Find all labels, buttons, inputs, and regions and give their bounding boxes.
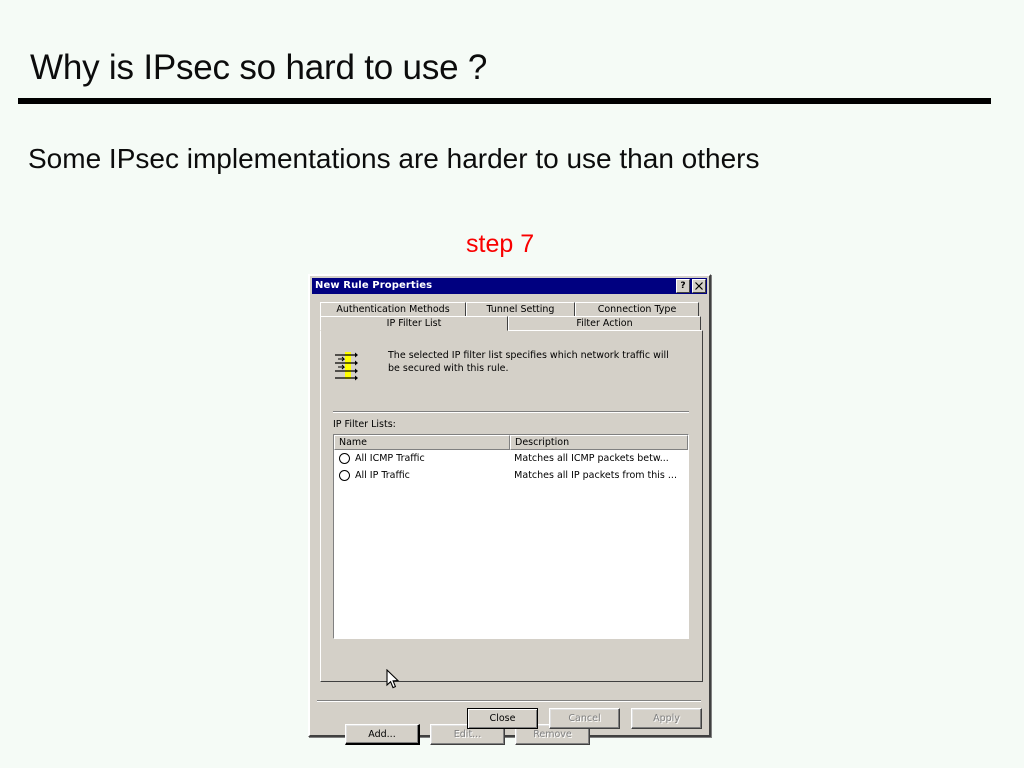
radio-icon[interactable] [339, 453, 350, 464]
column-header-description[interactable]: Description [510, 435, 688, 450]
filter-name: All ICMP Traffic [355, 453, 514, 464]
tab-row-lower: IP Filter List Filter Action [320, 316, 701, 331]
dialog-titlebar[interactable]: New Rule Properties ? [312, 278, 707, 294]
close-icon[interactable] [692, 279, 706, 293]
tab-connection-type[interactable]: Connection Type [575, 302, 699, 317]
radio-icon[interactable] [339, 470, 350, 481]
step-annotation: step 7 [466, 230, 534, 259]
slide-subtitle: Some IPsec implementations are harder to… [28, 143, 760, 175]
tab-filter-action[interactable]: Filter Action [508, 316, 701, 331]
filter-description: Matches all ICMP packets betw... [514, 453, 688, 464]
ip-filter-lists-label: IP Filter Lists: [333, 419, 396, 430]
filter-description: Matches all IP packets from this ... [514, 470, 688, 481]
tab-strip: Authentication Methods Tunnel Setting Co… [320, 302, 703, 330]
tab-authentication-methods[interactable]: Authentication Methods [320, 302, 466, 317]
table-row[interactable]: All ICMP Traffic Matches all ICMP packet… [334, 450, 688, 467]
dialog-title: New Rule Properties [315, 278, 674, 294]
tab-ip-filter-list[interactable]: IP Filter List [320, 316, 508, 331]
apply-button: Apply [631, 708, 702, 729]
add-button[interactable]: Add... [345, 724, 420, 745]
tab-tunnel-setting[interactable]: Tunnel Setting [466, 302, 575, 317]
help-icon[interactable]: ? [676, 279, 690, 293]
section-divider [333, 411, 689, 413]
title-divider [18, 98, 991, 104]
list-header-row: Name Description [334, 435, 688, 450]
info-banner: The selected IP filter list specifies wh… [333, 349, 688, 381]
column-header-name[interactable]: Name [334, 435, 510, 450]
filter-name: All IP Traffic [355, 470, 514, 481]
page-title: Why is IPsec so hard to use ? [30, 48, 487, 88]
close-button[interactable]: Close [467, 708, 538, 729]
dialog-footer-buttons: Close Cancel Apply [467, 708, 702, 729]
footer-divider [317, 700, 701, 702]
ip-filter-list-view[interactable]: Name Description All ICMP Traffic Matche… [333, 434, 689, 639]
table-row[interactable]: All IP Traffic Matches all IP packets fr… [334, 467, 688, 484]
tab-row-upper: Authentication Methods Tunnel Setting Co… [320, 302, 699, 317]
new-rule-properties-dialog: New Rule Properties ? Authentication Met… [308, 274, 711, 737]
ip-filter-icon [333, 351, 359, 381]
info-description: The selected IP filter list specifies wh… [388, 349, 680, 375]
cancel-button: Cancel [549, 708, 620, 729]
ip-filter-list-page: The selected IP filter list specifies wh… [320, 330, 703, 682]
